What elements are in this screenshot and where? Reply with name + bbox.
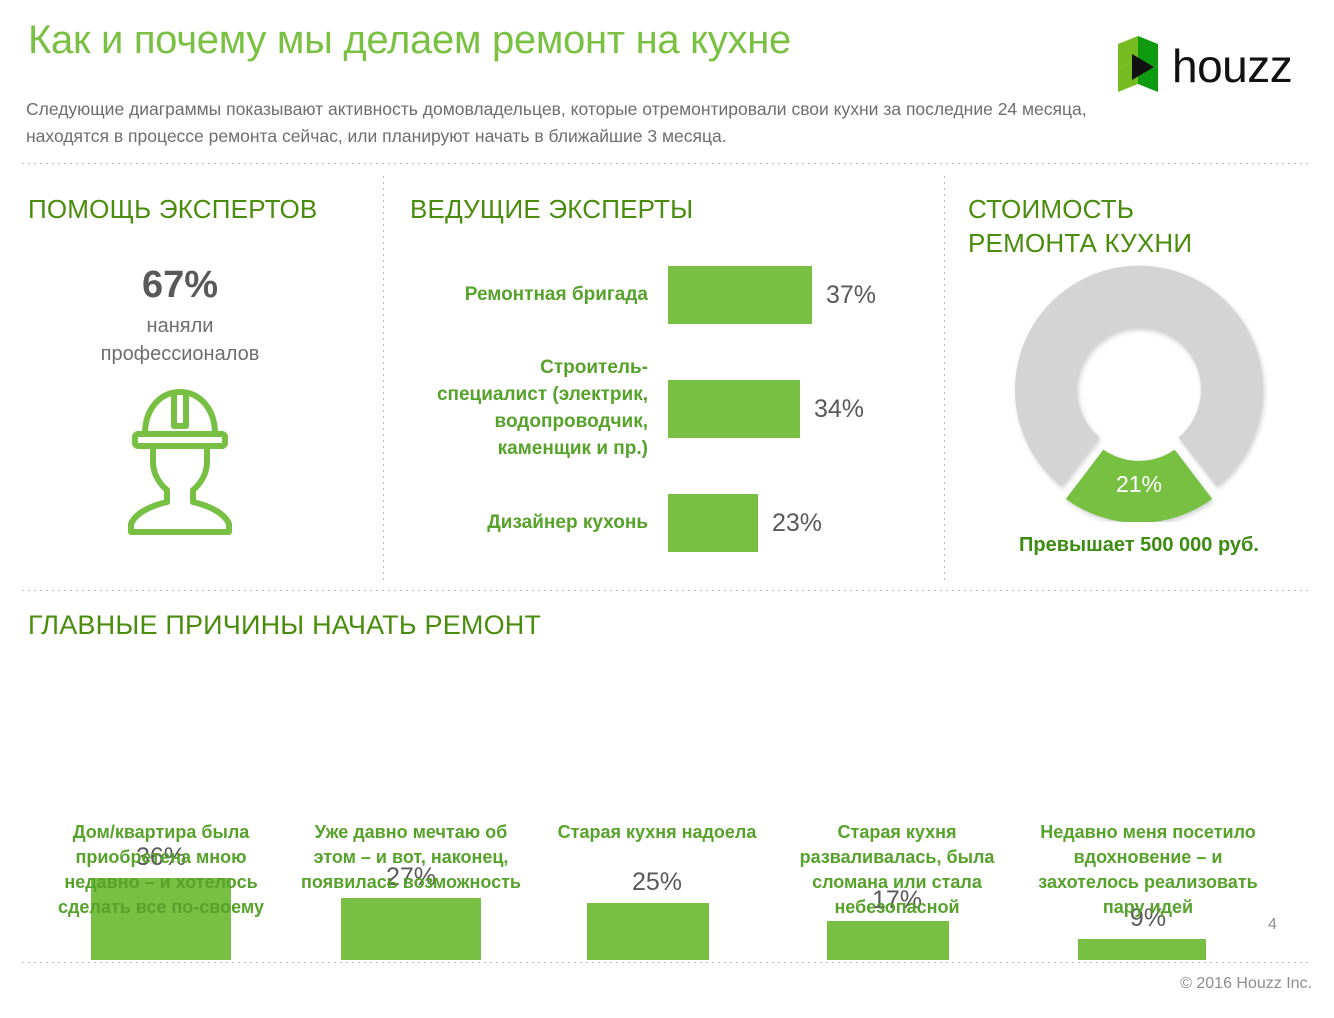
vbar-fill	[827, 921, 949, 960]
vbar-label-line: пару идей	[1012, 895, 1284, 920]
copyright-notice: © 2016 Houzz Inc.	[0, 975, 1312, 993]
expert-help-caption-line1: наняли	[0, 312, 360, 340]
section-heading-top-experts: ВЕДУЩИЕ ЭКСПЕРТЫ	[410, 192, 693, 226]
vbar-label: Старая кухня разваливалась, была сломана…	[766, 820, 1028, 920]
hbar-fill	[668, 494, 758, 552]
vbar-label: Недавно меня посетило вдохновение – и за…	[1012, 820, 1284, 920]
vbar-column: 25% Старая кухня надоела	[526, 670, 788, 960]
panel-reasons: ГЛАВНЫЕ ПРИЧИНЫ НАЧАТЬ РЕМОНТ 36% Дом/кв…	[0, 600, 1334, 960]
vbar-column: 27% Уже давно мечтаю об этом – и вот, на…	[280, 670, 542, 960]
vbar-column: 17% Старая кухня разваливалась, была сло…	[766, 670, 1028, 960]
vbar-label-line: небезопасной	[766, 895, 1028, 920]
vbar-label-line: сделать все по-своему	[30, 895, 292, 920]
section-heading-expert-help: ПОМОЩЬ ЭКСПЕРТОВ	[28, 192, 317, 226]
panel-cost: СТОИМОСТЬ РЕМОНТА КУХНИ 21%	[944, 176, 1334, 580]
divider-top	[22, 163, 1312, 164]
vbar-label-line: разваливалась, была	[766, 845, 1028, 870]
donut-value-label: 21%	[1116, 471, 1162, 497]
expert-help-stat: 67%	[0, 264, 360, 307]
hbar-value: 34%	[814, 380, 864, 438]
header: Как и почему мы делаем ремонт на кухне С…	[0, 0, 1334, 160]
vbar-label-line: вдохновение – и	[1012, 845, 1284, 870]
vbar-label-line: Дом/квартира была	[30, 820, 292, 845]
section-heading-reasons: ГЛАВНЫЕ ПРИЧИНЫ НАЧАТЬ РЕМОНТ	[28, 608, 541, 642]
houzz-logo-mark-icon	[1118, 36, 1164, 98]
donut-slice-highlight: 21%	[1066, 450, 1212, 522]
donut-slice-remainder	[1015, 266, 1263, 487]
expert-help-caption: наняли профессионалов	[0, 312, 360, 368]
vbar-label-line: сломана или стала	[766, 870, 1028, 895]
hbar-value: 37%	[826, 266, 876, 324]
donut-chart-svg: 21%	[984, 262, 1294, 522]
expert-help-caption-line2: профессионалов	[0, 340, 360, 368]
hbar-label: Строитель- специалист (электрик, водопро…	[388, 354, 648, 462]
section-heading-cost-line2: РЕМОНТА КУХНИ	[968, 226, 1298, 260]
vbar-column: 36% Дом/квартира была приобретена мною н…	[30, 670, 292, 960]
panel-top-experts: ВЕДУЩИЕ ЭКСПЕРТЫ Ремонтная бригада 37% С…	[383, 176, 944, 580]
divider-bottom	[22, 962, 1312, 963]
vbar-label-line: Старая кухня надоела	[526, 820, 788, 845]
page-title: Как и почему мы делаем ремонт на кухне	[28, 18, 791, 63]
vbar-fill	[1078, 939, 1206, 960]
section-heading-cost: СТОИМОСТЬ РЕМОНТА КУХНИ	[968, 192, 1298, 260]
hbar-label: Ремонтная бригада	[388, 281, 648, 308]
vbar-label-line: Старая кухня	[766, 820, 1028, 845]
cost-caption: Превышает 500 000 руб.	[944, 534, 1334, 557]
vbar-label-line: Недавно меня посетило	[1012, 820, 1284, 845]
houzz-wordmark: houzz	[1172, 40, 1292, 92]
vbar-column: 9% Недавно меня посетило вдохновение – и…	[1012, 670, 1284, 960]
hbar-fill	[668, 266, 812, 324]
vbar-fill	[587, 903, 709, 960]
construction-worker-icon	[105, 376, 255, 536]
vbar-label-line: этом – и вот, наконец,	[280, 845, 542, 870]
page-subtitle: Следующие диаграммы показывают активност…	[26, 96, 1101, 150]
vbar-fill	[341, 898, 481, 960]
vbar-label: Старая кухня надоела	[526, 820, 788, 845]
page-number: 4	[1268, 916, 1277, 934]
vbar-label-line: захотелось реализовать	[1012, 870, 1284, 895]
hbar-label: Дизайнер кухонь	[388, 509, 648, 536]
hbar-fill	[668, 380, 800, 438]
hbar-label-line: специалист (электрик,	[388, 381, 648, 408]
divider-middle	[22, 590, 1312, 591]
vbar-label-line: недавно – и хотелось	[30, 870, 292, 895]
infographic-page: Как и почему мы делаем ремонт на кухне С…	[0, 0, 1334, 1018]
vbar-label-line: приобретена мною	[30, 845, 292, 870]
vbar-label-line: появилась возможность	[280, 870, 542, 895]
panel-expert-help: ПОМОЩЬ ЭКСПЕРТОВ 67% наняли профессионал…	[0, 176, 383, 580]
vbar-label: Уже давно мечтаю об этом – и вот, наконе…	[280, 820, 542, 895]
vbar-label: Дом/квартира была приобретена мною недав…	[30, 820, 292, 920]
houzz-logo: houzz	[1118, 36, 1308, 98]
section-heading-cost-line1: СТОИМОСТЬ	[968, 192, 1298, 226]
hbar-label-line: водопроводчик,	[388, 408, 648, 435]
hbar-value: 23%	[772, 494, 822, 552]
vbar-label-line: Уже давно мечтаю об	[280, 820, 542, 845]
donut-chart: 21%	[984, 262, 1294, 522]
hbar-label-line: Строитель-	[388, 354, 648, 381]
vbar-value: 25%	[526, 868, 788, 897]
hbar-label-line: каменщик и пр.)	[388, 435, 648, 462]
